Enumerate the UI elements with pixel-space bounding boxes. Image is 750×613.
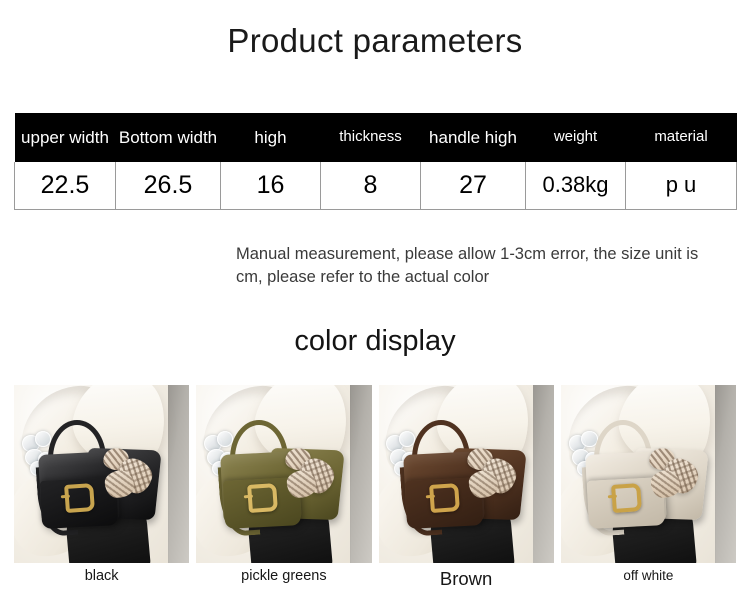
- value-high: 16: [221, 162, 321, 209]
- product-photo-off-white: [561, 385, 736, 563]
- handbag: [400, 444, 526, 537]
- page-title: Product parameters: [0, 0, 750, 57]
- silk-scarf: [462, 444, 530, 504]
- value-handle-high: 27: [421, 162, 526, 209]
- header-material: material: [626, 113, 737, 162]
- handbag: [35, 444, 161, 537]
- spec-table-container: upper width Bottom width high thickness …: [14, 113, 736, 210]
- silk-scarf: [280, 444, 348, 504]
- gold-buckle-icon: [247, 483, 278, 513]
- value-bottom-width: 26.5: [116, 162, 221, 209]
- color-label-off-white: off white: [561, 568, 736, 590]
- scarf-tail-b: [286, 470, 317, 499]
- gold-buckle-icon: [429, 483, 460, 513]
- silk-scarf: [645, 444, 713, 504]
- handbag: [217, 444, 343, 537]
- scarf-tail-b: [468, 470, 499, 499]
- scarf-tail-b: [104, 470, 135, 499]
- color-label-brown: Brown: [379, 568, 554, 590]
- product-parameters-table: upper width Bottom width high thickness …: [14, 113, 737, 210]
- value-weight: 0.38kg: [526, 162, 626, 209]
- table-value-row: 22.5 26.5 16 8 27 0.38kg p u: [15, 162, 737, 209]
- gold-buckle-icon: [611, 483, 642, 513]
- header-high: high: [221, 113, 321, 162]
- header-weight: weight: [526, 113, 626, 162]
- product-photo-pickle-greens: [196, 385, 371, 563]
- photo-scene: [561, 385, 736, 563]
- color-photo-strip: [14, 385, 736, 563]
- header-bottom-width: Bottom width: [116, 113, 221, 162]
- photo-scene: [14, 385, 189, 563]
- header-upper-width: upper width: [15, 113, 116, 162]
- value-upper-width: 22.5: [15, 162, 116, 209]
- gold-buckle-icon: [64, 483, 95, 513]
- header-handle-high: handle high: [421, 113, 526, 162]
- photo-scene: [196, 385, 371, 563]
- color-label-pickle-greens: pickle greens: [196, 568, 371, 590]
- product-photo-black: [14, 385, 189, 563]
- color-label-row: black pickle greens Brown off white: [14, 568, 736, 590]
- product-photo-brown: [379, 385, 554, 563]
- value-material: p u: [626, 162, 737, 209]
- silk-scarf: [98, 444, 166, 504]
- photo-scene: [379, 385, 554, 563]
- table-header-row: upper width Bottom width high thickness …: [15, 113, 737, 162]
- color-display-heading: color display: [0, 325, 750, 358]
- color-label-black: black: [14, 568, 189, 590]
- header-thickness: thickness: [321, 113, 421, 162]
- measurement-disclaimer: Manual measurement, please allow 1-3cm e…: [236, 243, 716, 290]
- value-thickness: 8: [321, 162, 421, 209]
- handbag: [582, 444, 708, 537]
